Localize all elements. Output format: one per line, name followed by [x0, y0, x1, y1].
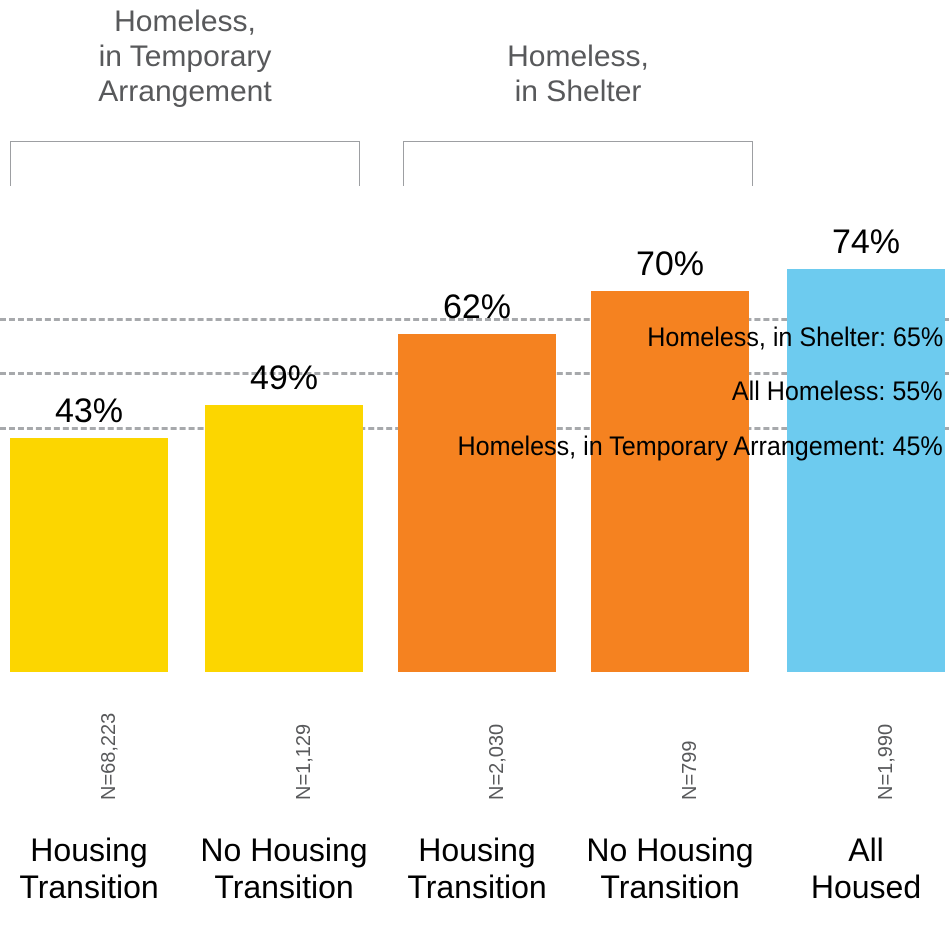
reference-line-label: Homeless, in Temporary Arrangement: 45% [458, 433, 943, 460]
sample-size-label: N=1,990 [876, 724, 896, 800]
category-label: Housing Transition [382, 832, 572, 906]
sample-size-label: N=1,129 [294, 724, 314, 800]
bar-no-housing-transition-temporary[interactable] [205, 405, 363, 672]
plot-area: 43% 49% 62% 70% 74% Homeless, in Shelter… [0, 200, 949, 672]
sample-size-label: N=68,223 [99, 713, 119, 800]
bar-housing-transition-temporary[interactable] [10, 438, 168, 672]
bar-housing-transition-shelter[interactable] [398, 334, 556, 672]
group-bracket-homeless-temporary-arrangement [10, 141, 360, 186]
bar-value-label: 49% [205, 361, 363, 395]
category-label: Housing Transition [0, 832, 184, 906]
group-header-homeless-temporary-arrangement: Homeless, in Temporary Arrangement [10, 4, 360, 109]
bar-value-label: 62% [398, 290, 556, 324]
bar-value-label: 70% [591, 247, 749, 281]
chart-canvas: Homeless, in Temporary Arrangement Homel… [0, 0, 949, 928]
category-label: No Housing Transition [575, 832, 765, 906]
sample-size-label: N=2,030 [487, 724, 507, 800]
reference-line-label: All Homeless: 55% [732, 378, 943, 405]
group-bracket-homeless-in-shelter [403, 141, 753, 186]
bar-value-label: 43% [10, 394, 168, 428]
reference-line-label: Homeless, in Shelter: 65% [647, 324, 943, 351]
bar-value-label: 74% [787, 225, 945, 259]
category-label: All Housed [771, 832, 949, 906]
category-label: No Housing Transition [189, 832, 379, 906]
group-header-homeless-in-shelter: Homeless, in Shelter [403, 39, 753, 109]
sample-size-label: N=799 [680, 741, 700, 801]
